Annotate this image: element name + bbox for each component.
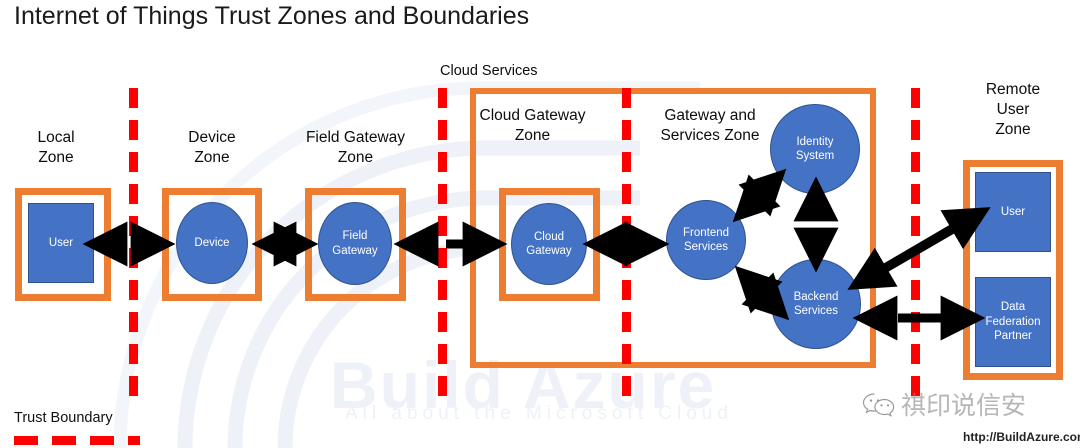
watermark-build-azure-sub: All about the Microsoft Cloud [345, 404, 733, 423]
zone-caption-device: Device Zone [162, 128, 262, 168]
legend-trust-boundary-swatch [14, 436, 140, 445]
node-user-remote[interactable]: User [975, 172, 1051, 252]
node-data-federation-partner[interactable]: Data Federation Partner [975, 277, 1051, 367]
zone-caption-cloud-gateway: Cloud Gateway Zone [470, 106, 595, 146]
wechat-watermark-text: 祺印说信安 [901, 393, 1026, 418]
node-user-local[interactable]: User [28, 203, 94, 283]
zone-caption-local: Local Zone [6, 128, 106, 168]
source-url: http://BuildAzure.com [963, 430, 1080, 444]
trust-boundary-local-device [129, 88, 138, 396]
node-backend-services[interactable]: Backend Services [771, 259, 861, 349]
zone-caption-remote-user: Remote User Zone [963, 80, 1063, 139]
node-frontend-services[interactable]: Frontend Services [666, 200, 746, 280]
trust-boundary-cloud-remoteuser [911, 88, 920, 396]
zone-caption-gateway-services: Gateway and Services Zone [646, 106, 774, 146]
node-field-gateway[interactable]: Field Gateway [318, 202, 392, 285]
page-title: Internet of Things Trust Zones and Bound… [14, 2, 529, 31]
wechat-icon [862, 392, 896, 418]
trust-boundary-cloudgw-gateway [622, 88, 631, 396]
zone-caption-cloud-services: Cloud Services [440, 62, 600, 81]
diagram-canvas: Build Azure All about the Microsoft Clou… [0, 0, 1080, 448]
trust-boundary-fieldgw-cloud [438, 88, 447, 396]
node-device[interactable]: Device [176, 202, 248, 284]
legend-trust-boundary-label: Trust Boundary [14, 410, 113, 426]
wechat-watermark: 祺印说信安 [862, 392, 1026, 418]
node-identity-system[interactable]: Identity System [770, 104, 860, 194]
node-cloud-gateway[interactable]: Cloud Gateway [511, 203, 587, 285]
zone-caption-field-gateway: Field Gateway Zone [288, 128, 423, 168]
